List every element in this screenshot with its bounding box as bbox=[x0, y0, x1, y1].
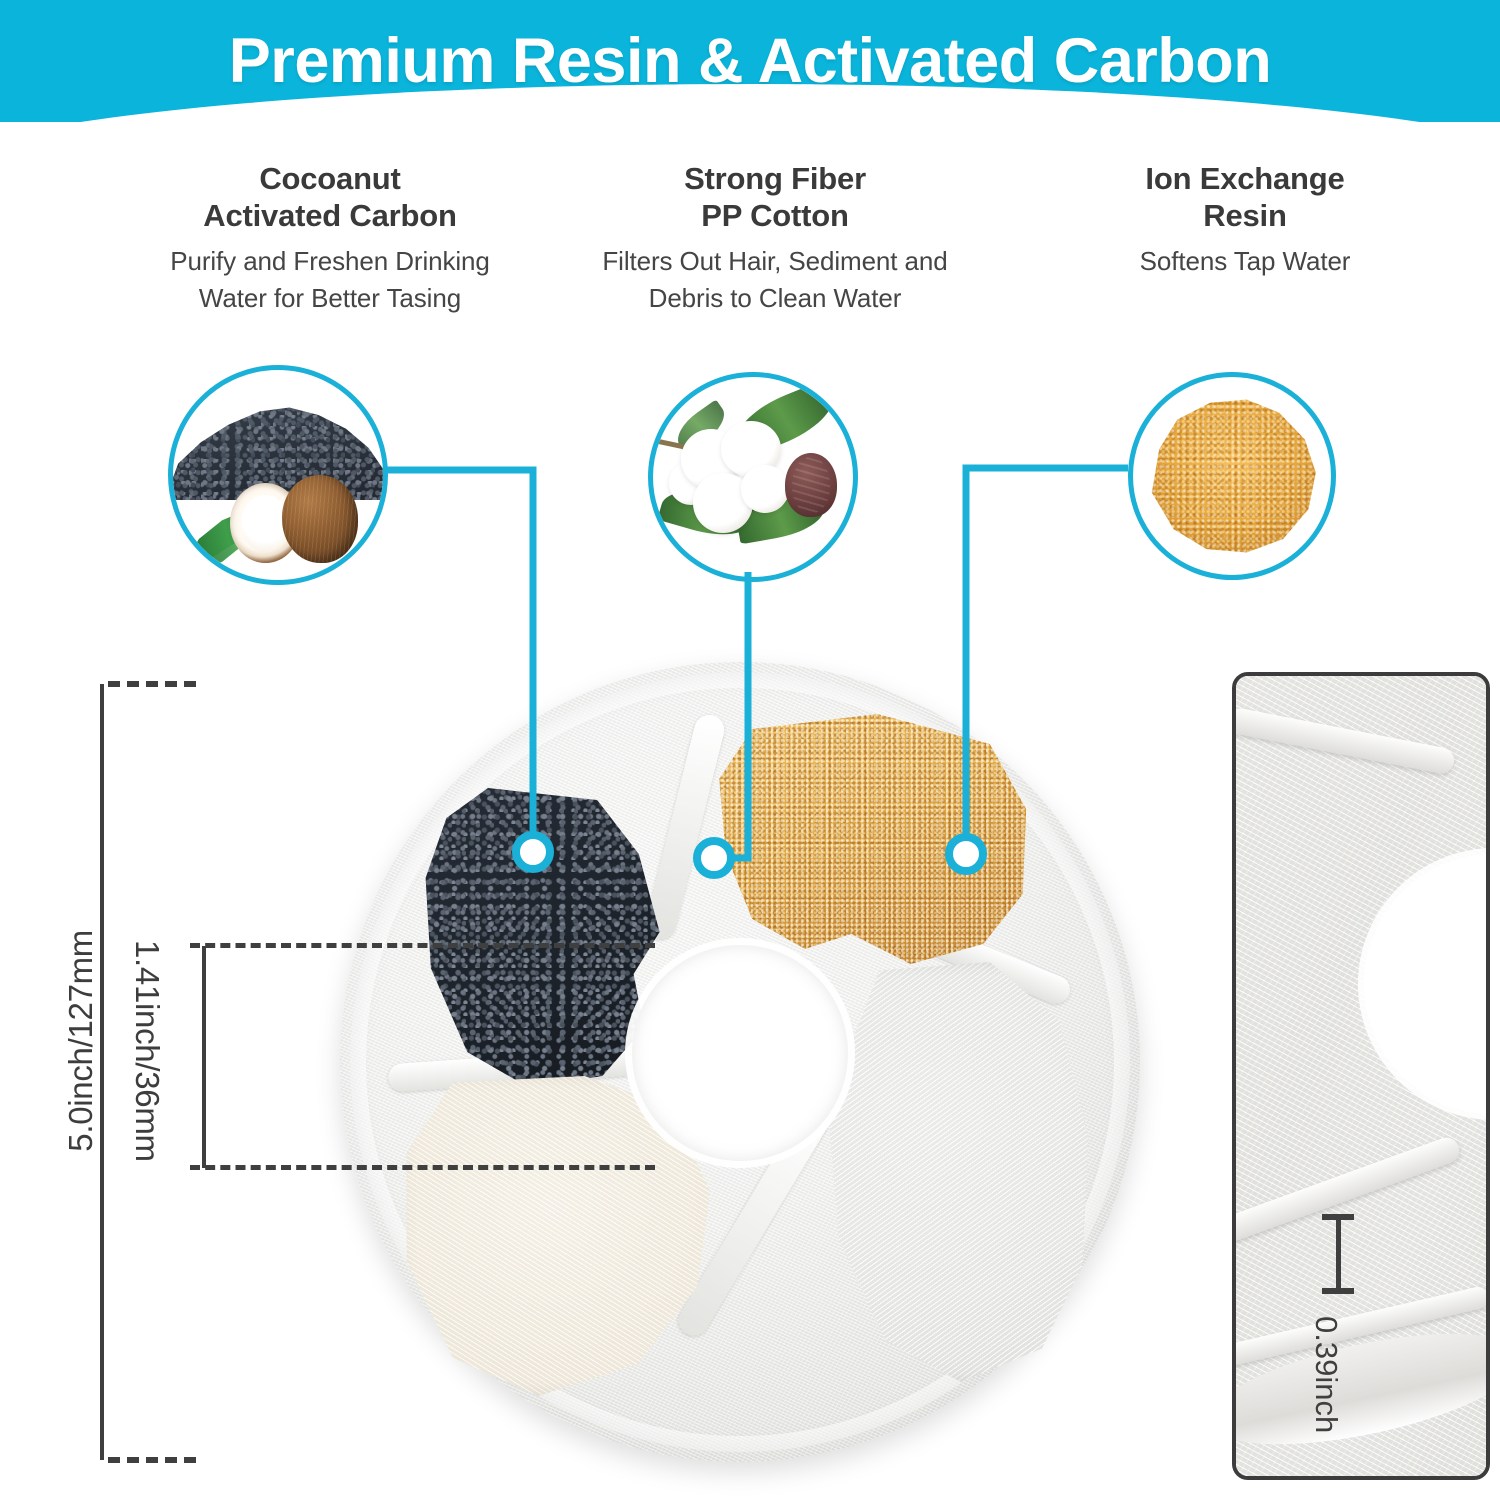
segment-extension-bottom bbox=[190, 1165, 655, 1170]
feature-column-ion-exchange-resin: Ion Exchange Resin Softens Tap Water bbox=[1030, 160, 1460, 280]
segment-dimension-label: 1.41inch/36mm bbox=[128, 940, 166, 1162]
feature-subtitle: Softens Tap Water bbox=[1030, 243, 1460, 279]
feature-title: Ion Exchange Resin bbox=[1030, 160, 1460, 234]
feature-column-pp-cotton: Strong Fiber PP Cotton Filters Out Hair,… bbox=[560, 160, 990, 316]
segment-extension-top bbox=[190, 943, 655, 948]
thickness-dimension-label: 0.39inch bbox=[1308, 1316, 1344, 1433]
feature-title-line2: PP Cotton bbox=[560, 197, 990, 234]
feature-columns: Cocoanut Activated Carbon Purify and Fre… bbox=[0, 160, 1500, 360]
diameter-extension-bottom bbox=[108, 1457, 196, 1463]
detail-groove bbox=[1232, 706, 1456, 775]
segment-dimension-line bbox=[202, 946, 206, 1168]
filter-edge-closeup-image bbox=[1236, 676, 1486, 1476]
feature-title-line1: Strong Fiber bbox=[560, 160, 990, 197]
resin-powder-icon bbox=[1141, 393, 1323, 559]
feature-title: Cocoanut Activated Carbon bbox=[70, 160, 590, 234]
thickness-detail-panel: 0.39inch bbox=[1232, 672, 1490, 1480]
image-clip bbox=[1133, 377, 1331, 575]
feature-title-line1: Ion Exchange bbox=[1030, 160, 1460, 197]
feature-subtitle-line1: Softens Tap Water bbox=[1030, 243, 1460, 279]
cotton-boll-icon bbox=[741, 465, 789, 513]
feature-image-cotton-boll bbox=[648, 372, 858, 582]
feature-subtitle-line2: Debris to Clean Water bbox=[560, 280, 990, 316]
detail-groove bbox=[1232, 1134, 1463, 1244]
diameter-extension-top bbox=[108, 681, 196, 687]
feature-title-line2: Resin bbox=[1030, 197, 1460, 234]
cotton-bud-icon bbox=[785, 453, 837, 517]
feature-image-ion-exchange-resin bbox=[1128, 372, 1336, 580]
feature-title-line1: Cocoanut bbox=[70, 160, 590, 197]
filter-disc bbox=[340, 662, 1140, 1462]
page-title: Premium Resin & Activated Carbon bbox=[0, 0, 1500, 122]
diameter-dimension-label: 5.0inch/127mm bbox=[62, 930, 100, 1152]
infographic-canvas: Premium Resin & Activated Carbon Cocoanu… bbox=[0, 0, 1500, 1500]
detail-center-hole bbox=[1364, 854, 1490, 1114]
feature-subtitle-line2: Water for Better Tasing bbox=[70, 280, 590, 316]
feature-title: Strong Fiber PP Cotton bbox=[560, 160, 990, 234]
feature-subtitle-line1: Purify and Freshen Drinking bbox=[70, 243, 590, 279]
image-clip bbox=[173, 370, 383, 580]
diameter-dimension-line bbox=[100, 684, 104, 1460]
coconut-whole-icon bbox=[282, 475, 358, 563]
feature-column-activated-carbon: Cocoanut Activated Carbon Purify and Fre… bbox=[70, 160, 590, 316]
feature-subtitle-line1: Filters Out Hair, Sediment and bbox=[560, 243, 990, 279]
feature-subtitle: Purify and Freshen Drinking Water for Be… bbox=[70, 243, 590, 316]
feature-subtitle: Filters Out Hair, Sediment and Debris to… bbox=[560, 243, 990, 316]
thickness-dimension-line bbox=[1336, 1216, 1341, 1294]
image-clip bbox=[653, 377, 853, 577]
disc-center-hole bbox=[632, 945, 848, 1161]
thickness-cap-bottom bbox=[1322, 1288, 1354, 1294]
feature-title-line2: Activated Carbon bbox=[70, 197, 590, 234]
feature-image-coconut-activated-carbon bbox=[168, 365, 388, 585]
